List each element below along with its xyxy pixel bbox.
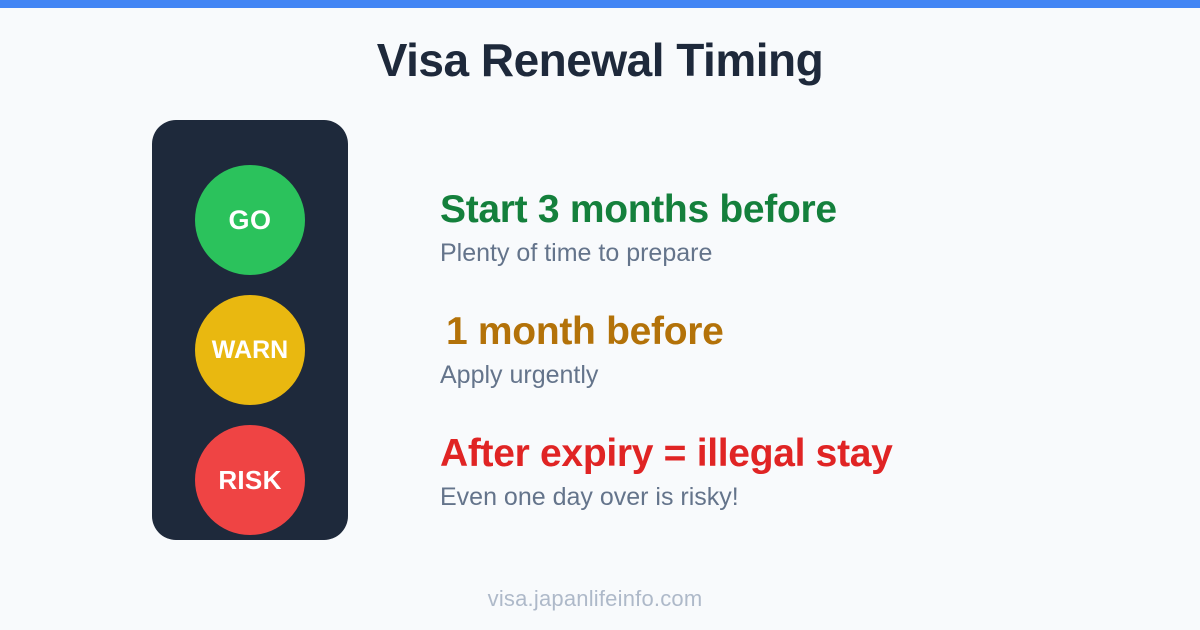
traffic-light-go: GO: [195, 165, 305, 275]
timing-step-risk-heading: After expiry = illegal stay: [440, 430, 1140, 478]
timing-step-warn: 1 month before Apply urgently: [440, 308, 1140, 394]
timing-step-go: Start 3 months before Plenty of time to …: [440, 186, 1140, 272]
traffic-light-risk: RISK: [195, 425, 305, 535]
timing-step-go-subtext: Plenty of time to prepare: [440, 234, 1140, 272]
timing-steps-list: Start 3 months before Plenty of time to …: [440, 186, 1140, 516]
timing-step-risk-subtext: Even one day over is risky!: [440, 478, 1140, 516]
page-title: Visa Renewal Timing: [0, 30, 1200, 90]
footer-website-url: visa.japanlifeinfo.com: [180, 586, 1010, 612]
traffic-light-warn: WARN: [195, 295, 305, 405]
top-accent-bar: [0, 0, 1200, 8]
timing-step-warn-subtext: Apply urgently: [440, 356, 1140, 394]
timing-step-warn-heading: 1 month before: [440, 308, 1140, 356]
traffic-light-housing: GO WARN RISK: [152, 120, 348, 540]
timing-step-go-heading: Start 3 months before: [440, 186, 1140, 234]
timing-step-risk: After expiry = illegal stay Even one day…: [440, 430, 1140, 516]
